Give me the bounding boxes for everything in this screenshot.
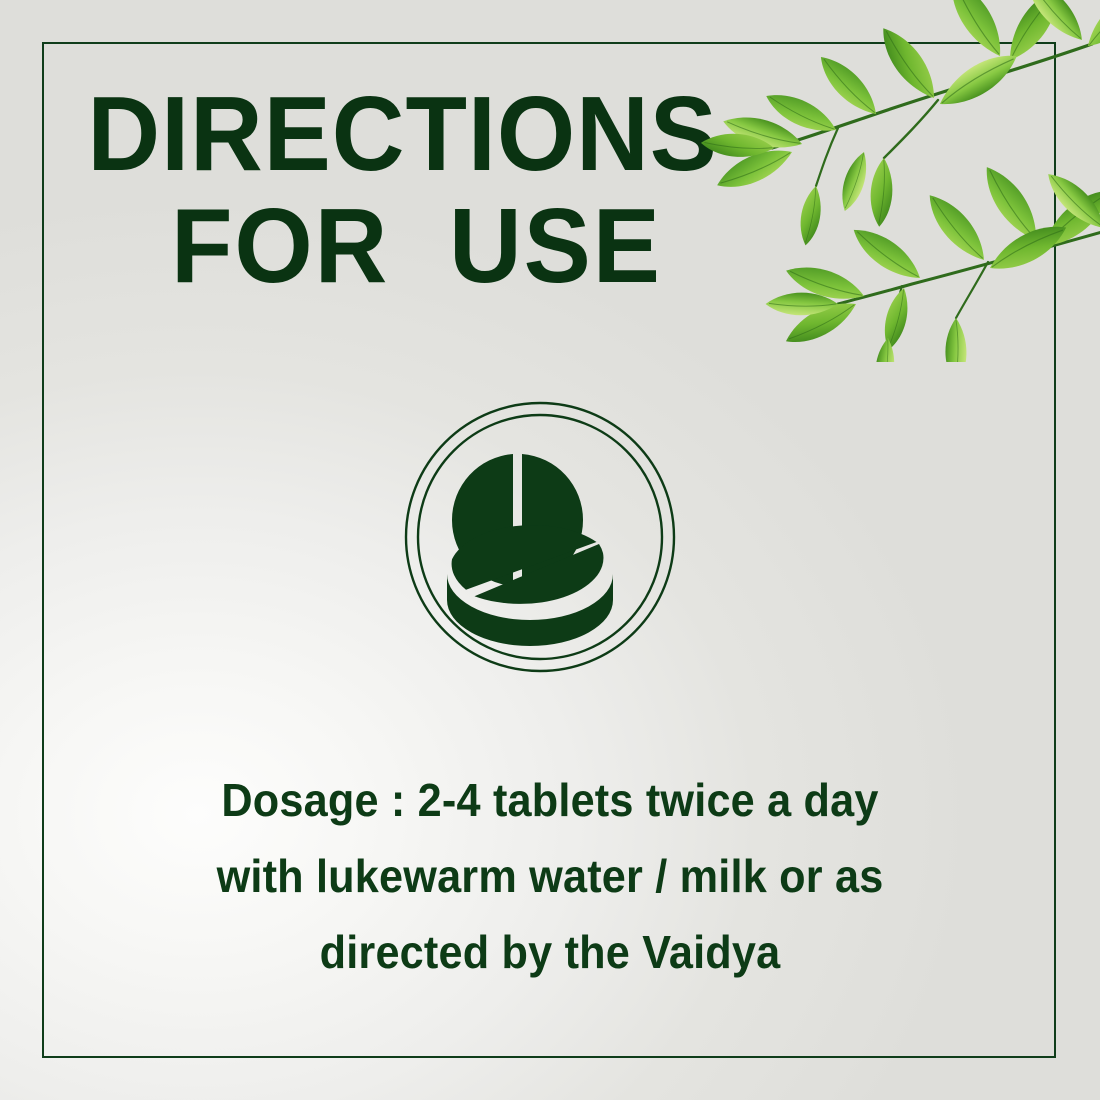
dosage-text: Dosage : 2-4 tablets twice a day with lu… bbox=[120, 762, 980, 990]
tablets-icon-glyph bbox=[447, 454, 613, 646]
dosage-line-3: directed by the Vaidya bbox=[146, 914, 954, 990]
directions-for-use-poster: DIRECTIONS FOR USE Dosage : 2-4 tablets … bbox=[0, 0, 1100, 1100]
dosage-line-2: with lukewarm water / milk or as bbox=[146, 838, 954, 914]
tablets-icon bbox=[400, 397, 680, 677]
dosage-line-1: Dosage : 2-4 tablets twice a day bbox=[146, 762, 954, 838]
